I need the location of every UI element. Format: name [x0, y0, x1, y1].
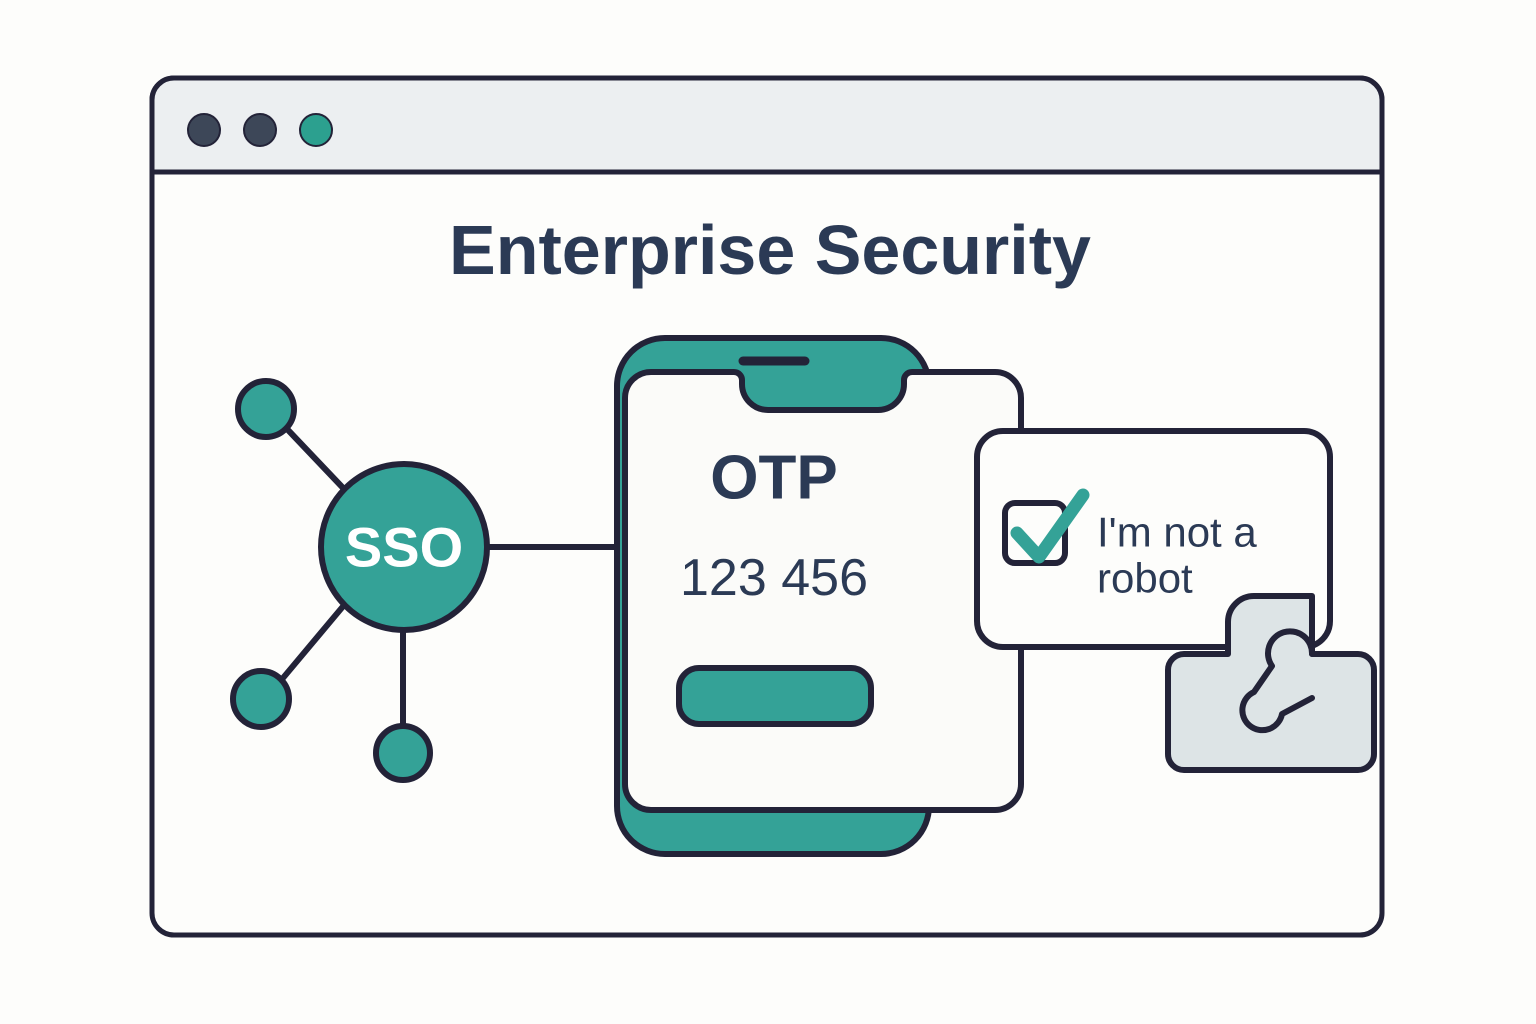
screenshot-root: SSO OTP 123 456 I'm not a	[0, 0, 1536, 1024]
sso-node-top-left[interactable]	[238, 381, 294, 437]
page-title: Enterprise Security	[449, 211, 1091, 289]
maximize-dot-icon[interactable]	[300, 114, 332, 146]
close-dot-icon[interactable]	[188, 114, 220, 146]
phone-mockup: OTP 123 456	[617, 338, 1021, 854]
otp-heading: OTP	[710, 444, 837, 513]
sso-hub-label: SSO	[345, 516, 463, 579]
captcha-label-line-1: I'm not a	[1097, 509, 1257, 556]
illustration-canvas: SSO OTP 123 456 I'm not a	[0, 0, 1536, 1024]
sso-node-bottom[interactable]	[376, 726, 430, 780]
otp-code-value: 123 456	[680, 549, 868, 607]
browser-titlebar	[152, 78, 1382, 172]
captcha-label-line-2: robot	[1097, 555, 1193, 602]
minimize-dot-icon[interactable]	[244, 114, 276, 146]
sso-node-bottom-left[interactable]	[233, 671, 289, 727]
otp-submit-button[interactable]	[679, 668, 871, 724]
